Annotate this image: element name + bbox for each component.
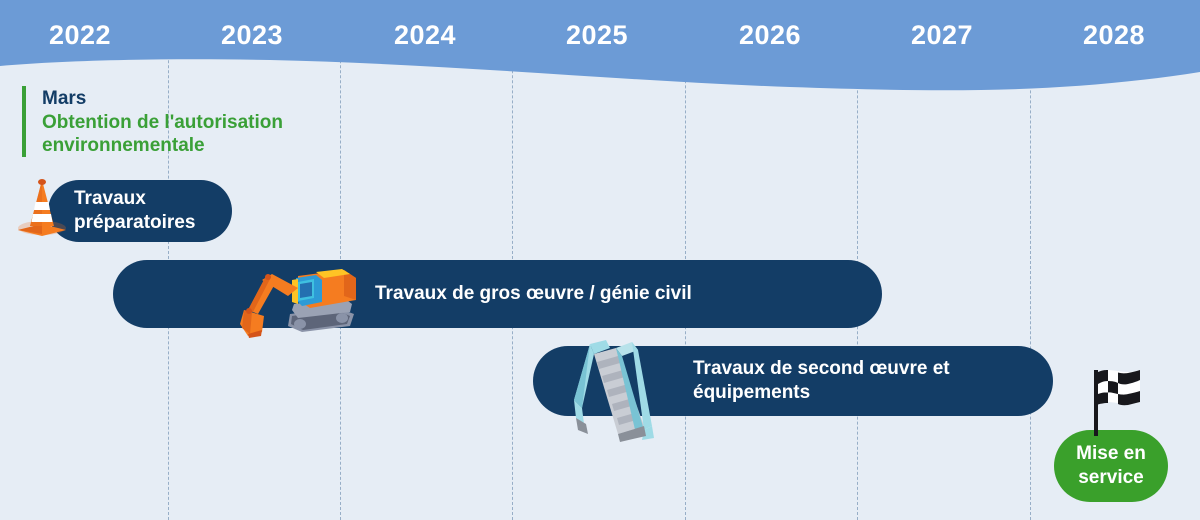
year-label-2028: 2028 <box>1028 20 1200 51</box>
year-label-2026: 2026 <box>684 20 856 51</box>
phase-label-travaux-preparatoires: Travaux préparatoires <box>74 187 232 235</box>
year-label-2024: 2024 <box>339 20 511 51</box>
milestone-month-label: Mars <box>42 86 342 111</box>
milestone-description: Obtention de l'autorisation environnemen… <box>42 111 342 157</box>
year-label-2023: 2023 <box>166 20 338 51</box>
phase-label-second-oeuvre: Travaux de second œuvre et équipements <box>693 357 1053 405</box>
year-label-2025: 2025 <box>511 20 683 51</box>
year-axis: 2022 2023 2024 2025 2026 2027 2028 <box>0 0 1200 75</box>
end-milestone-label: Mise en service <box>1054 442 1168 490</box>
year-label-2027: 2027 <box>856 20 1028 51</box>
phase-bar-travaux-preparatoires[interactable]: Travaux préparatoires <box>48 180 232 242</box>
project-timeline: 2022 2023 2024 2025 2026 2027 2028 Mars … <box>0 0 1200 520</box>
year-label-2022: 2022 <box>0 20 166 51</box>
milestone-mars: Mars Obtention de l'autorisation environ… <box>22 86 342 157</box>
phase-bar-second-oeuvre[interactable]: Travaux de second œuvre et équipements <box>533 346 1053 416</box>
end-milestone-badge[interactable]: Mise en service <box>1054 430 1168 502</box>
phase-label-gros-oeuvre: Travaux de gros œuvre / génie civil <box>375 282 692 306</box>
phase-bar-gros-oeuvre[interactable]: Travaux de gros œuvre / génie civil <box>113 260 882 328</box>
